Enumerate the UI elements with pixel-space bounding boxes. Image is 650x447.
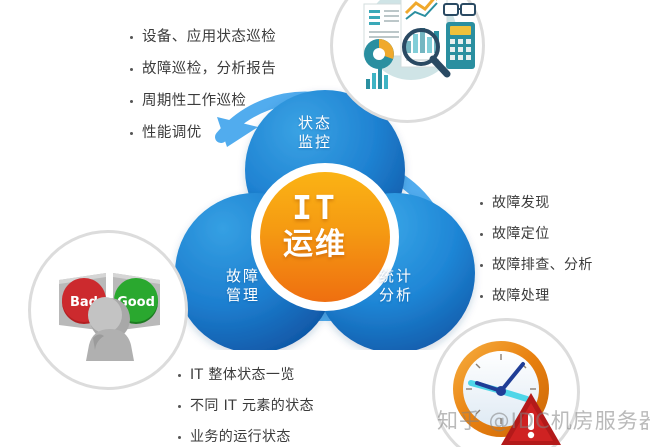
- center-circle[interactable]: [260, 172, 390, 302]
- venn-svg: [155, 85, 495, 350]
- list-item-label: 故障处理: [492, 285, 550, 307]
- bar: [372, 73, 376, 89]
- list-item: IT 整体状态一览: [178, 364, 314, 386]
- list-item-label: 故障巡检，分析报告: [142, 58, 276, 80]
- list-item-label: 故障排查、分析: [492, 254, 593, 276]
- doc-line: [369, 31, 399, 33]
- list-item-label: 设备、应用状态巡检: [142, 26, 276, 48]
- bar: [384, 75, 388, 89]
- data-analytics-icon: [333, 0, 482, 120]
- list-item: 故障处理: [480, 285, 593, 307]
- badge-good-bad: Bad Good: [28, 230, 188, 390]
- good-bad-buttons-icon: Bad Good: [31, 233, 185, 387]
- bullet-dot-icon: [130, 36, 133, 39]
- calculator-display: [450, 26, 471, 35]
- bullet-dot-icon: [130, 132, 133, 135]
- bullet-dot-icon: [130, 68, 133, 71]
- doc-line: [384, 20, 399, 22]
- list-item: 不同 IT 元素的状态: [178, 395, 314, 417]
- doc-line: [369, 10, 380, 13]
- bar: [378, 67, 382, 89]
- badge-analytics: [330, 0, 485, 123]
- bullet-list-right: 故障发现 故障定位 故障排查、分析 故障处理: [480, 192, 593, 316]
- doc-line: [384, 10, 399, 12]
- list-item-label: 不同 IT 元素的状态: [190, 395, 314, 417]
- list-item: 故障巡检，分析报告: [130, 58, 276, 80]
- list-item: 故障发现: [480, 192, 593, 214]
- bullet-dot-icon: [130, 100, 133, 103]
- bullet-list-bottom: IT 整体状态一览 不同 IT 元素的状态 业务的运行状态: [178, 364, 314, 447]
- list-item: 故障定位: [480, 223, 593, 245]
- list-item: 故障排查、分析: [480, 254, 593, 276]
- figure-head-light: [88, 297, 122, 333]
- bullet-dot-icon: [178, 436, 181, 439]
- donut-hole: [373, 48, 385, 60]
- list-item-label: 业务的运行状态: [190, 426, 291, 447]
- glasses-lens-right: [461, 4, 475, 15]
- venn-diagram: 状态 监控 故障 管理 统计 分析 IT 运维: [155, 85, 495, 350]
- bullet-dot-icon: [178, 405, 181, 408]
- doc-line: [369, 16, 380, 19]
- list-item-label: IT 整体状态一览: [190, 364, 295, 386]
- figure-shoulders: [86, 329, 134, 361]
- doc-line: [384, 15, 399, 17]
- diagram-canvas: 设备、应用状态巡检 故障巡检，分析报告 周期性工作巡检 性能调优 故障发现 故障…: [0, 0, 650, 447]
- glasses-lens-left: [444, 4, 458, 15]
- calculator-keys: [450, 39, 471, 60]
- list-item: 业务的运行状态: [178, 426, 314, 447]
- doc-line: [369, 22, 380, 25]
- list-item: 设备、应用状态巡检: [130, 26, 276, 48]
- bar: [366, 79, 370, 89]
- watermark: 知乎 @IDC机房服务器: [437, 405, 650, 435]
- doc-line: [369, 36, 399, 38]
- clock-center-pin: [496, 386, 506, 396]
- list-item-label: 故障发现: [492, 192, 550, 214]
- list-item-label: 故障定位: [492, 223, 550, 245]
